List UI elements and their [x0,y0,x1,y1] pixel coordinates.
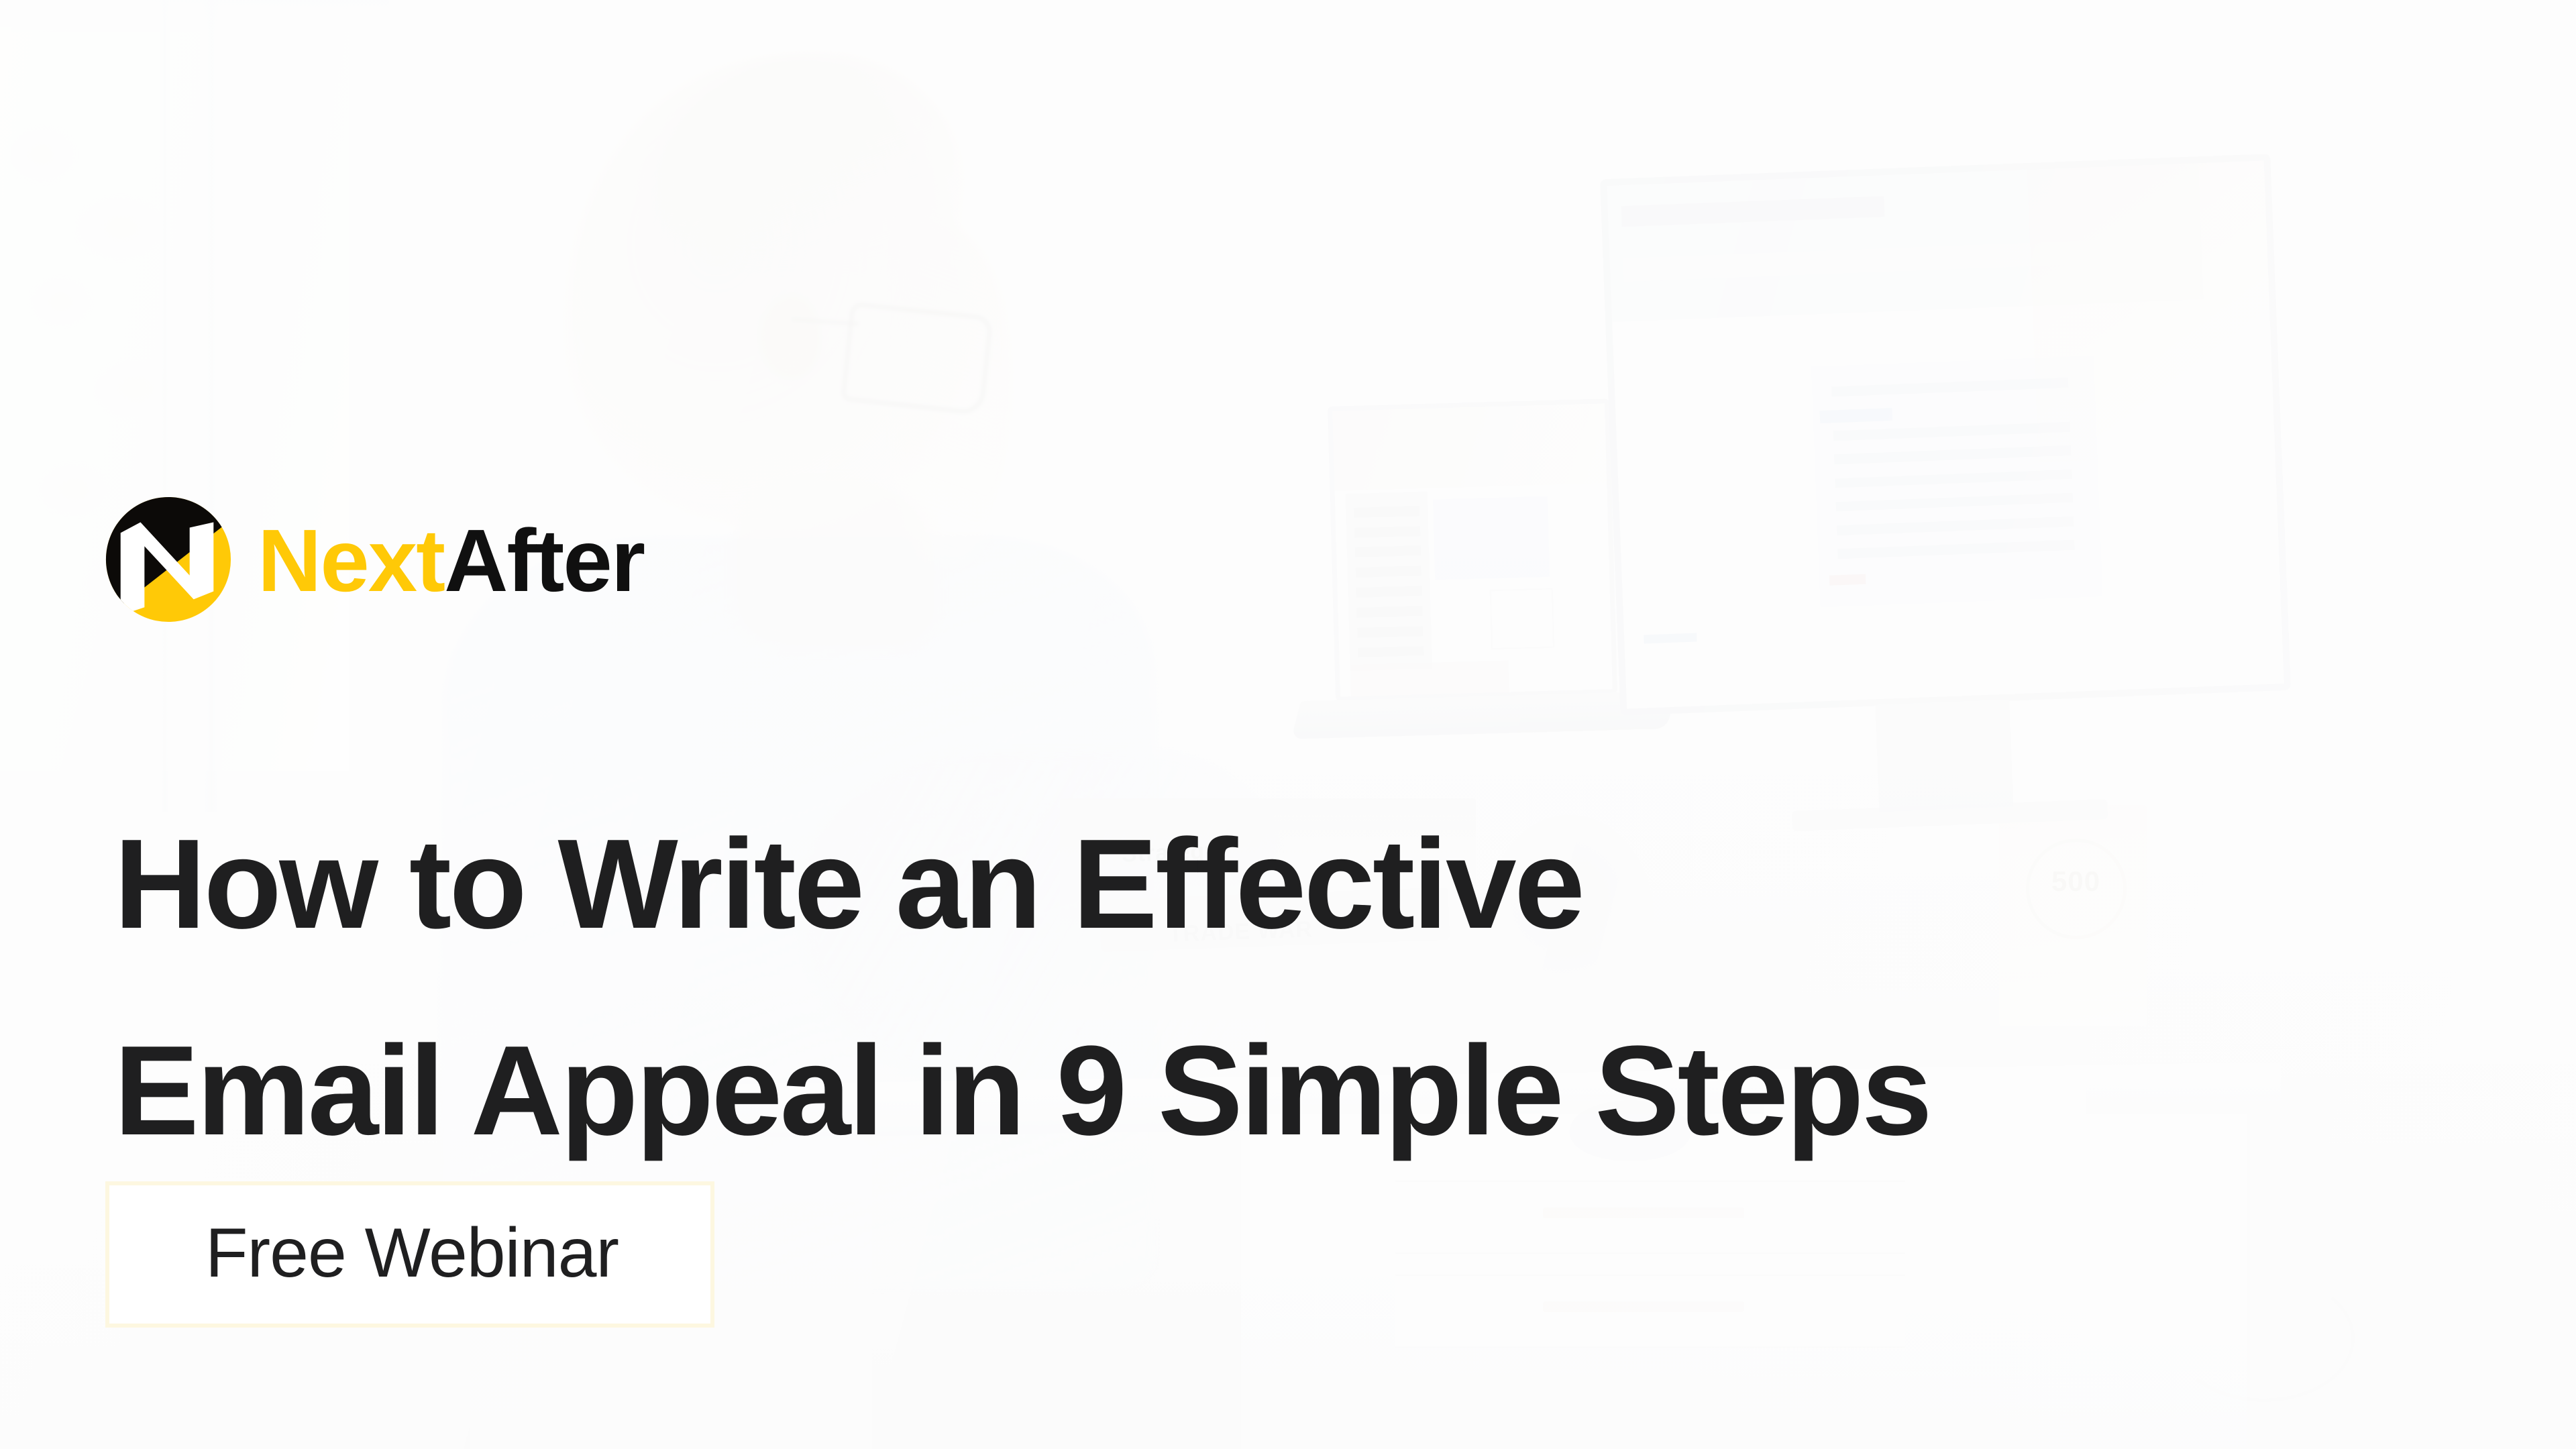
brand-wordmark-next: Next [258,511,444,610]
free-webinar-badge-label: Free Webinar [205,1218,619,1288]
brand-wordmark-after: After [444,511,644,610]
promo-content: NextAfter How to Write an Effective Emai… [0,0,2576,1449]
headline-line-2: Email Appeal in 9 Simple Steps [114,988,2502,1195]
promo-canvas: Strategy TRADE WAR 500 [0,0,2576,1449]
headline-line-1: How to Write an Effective [114,782,2502,988]
brand-logo-lockup[interactable]: NextAfter [102,493,644,626]
brand-wordmark: NextAfter [258,517,644,605]
free-webinar-badge[interactable]: Free Webinar [105,1181,714,1328]
page-title: How to Write an Effective Email Appeal i… [114,782,2502,1195]
nextafter-circle-n-logo-icon [102,493,235,626]
